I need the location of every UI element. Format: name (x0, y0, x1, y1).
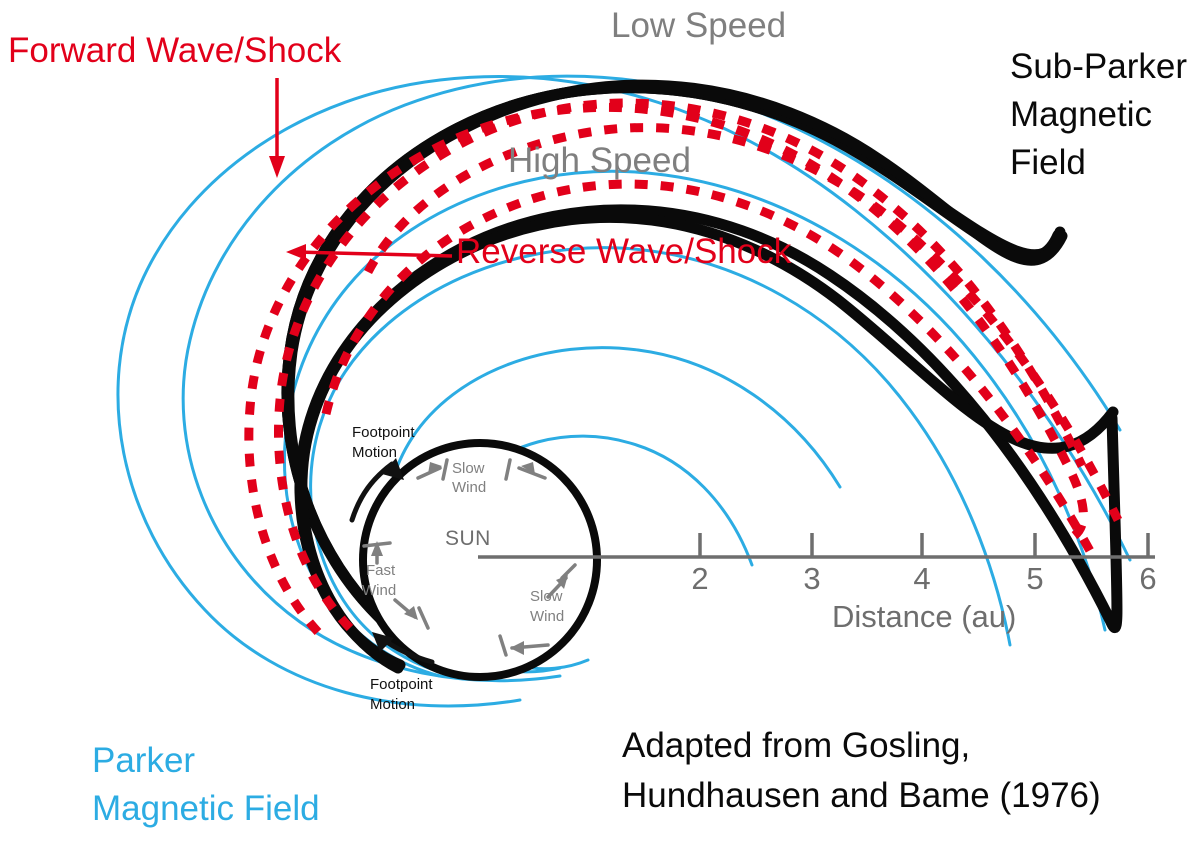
footpoint-bottom-line1: Footpoint (370, 676, 433, 695)
parker-label-line2: Magnetic Field (92, 790, 320, 828)
axis-tick-label-4: 4 (902, 562, 942, 595)
footpoint-bottom-line2: Motion (370, 696, 415, 715)
axis-tick-label-6: 6 (1128, 562, 1168, 595)
sun-label: SUN (445, 528, 491, 551)
axis-title: Distance (au) (832, 600, 1016, 633)
credit-line-2: Hundhausen and Bame (1976) (622, 777, 1101, 815)
slow-wind-bottom-line2: Wind (530, 608, 564, 627)
fast-wind-line2: Wind (362, 582, 396, 601)
figure-canvas: Forward Wave/Shock Reverse Wave/Shock Lo… (0, 0, 1200, 850)
slow-wind-bottom-line1: Slow (530, 588, 563, 607)
low-speed-label: Low Speed (611, 7, 786, 45)
callout-arrowheads (269, 156, 306, 260)
footpoint-top-line1: Footpoint (352, 424, 415, 443)
high-speed-label: High Speed (508, 142, 691, 180)
slow-wind-top-line1: Slow (452, 460, 485, 479)
fast-wind-line1: Fast (366, 562, 395, 581)
reverse-wave-label: Reverse Wave/Shock (456, 233, 791, 271)
parker-label-line1: Parker (92, 742, 195, 780)
credit-line-1: Adapted from Gosling, (622, 727, 970, 765)
axis-tick-label-2: 2 (680, 562, 720, 595)
slow-wind-top-line2: Wind (452, 479, 486, 498)
forward-wave-label: Forward Wave/Shock (8, 32, 341, 70)
reverse-shock-arrowhead (286, 244, 306, 260)
forward-shock-arrowhead (269, 156, 285, 178)
sub-parker-label-line2: Magnetic (1010, 96, 1152, 134)
axis-tick-label-5: 5 (1015, 562, 1055, 595)
sub-parker-label-line1: Sub-Parker (1010, 48, 1187, 86)
footpoint-top-line2: Motion (352, 444, 397, 463)
axis-tick-label-3: 3 (792, 562, 832, 595)
sub-parker-label-line3: Field (1010, 144, 1086, 182)
